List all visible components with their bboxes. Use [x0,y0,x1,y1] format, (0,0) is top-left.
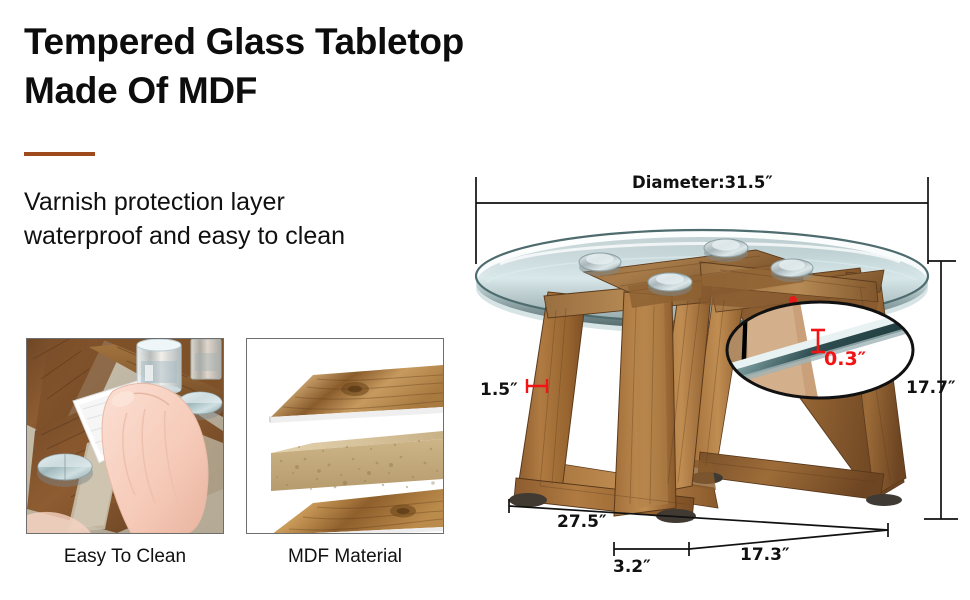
mdf-layers-illustration [247,339,443,533]
glass-thickness-callout [720,296,913,398]
dimension-label-leg-thickness: 1.5″ [480,380,518,400]
table-base [509,250,906,523]
dimension-label-glass-thickness: 0.3″ [824,348,866,370]
dimension-label-height: 17.7″ [906,378,956,398]
subtitle: Varnish protection layer waterproof and … [24,186,454,253]
dimension-label-width: 27.5″ [557,512,607,532]
subtitle-line1: Varnish protection layer [24,186,454,220]
photo-mdf-material [246,338,444,534]
page-title-line1: Tempered Glass Tabletop [24,18,624,67]
caption-easy-to-clean: Easy To Clean [25,546,225,568]
glass-tabletop [476,230,928,334]
caption-mdf-material: MDF Material [245,546,445,568]
accent-divider [24,152,95,156]
photo-easy-to-clean [26,338,224,534]
easy-to-clean-illustration [27,339,223,533]
page-title: Tempered Glass Tabletop Made Of MDF [24,18,624,116]
glass-support-discs [579,239,813,296]
dimension-label-foot: 3.2″ [613,557,651,577]
subtitle-line2: waterproof and easy to clean [24,220,454,254]
infographic-page: Tempered Glass Tabletop Made Of MDF Varn… [0,0,970,600]
dimension-label-side: 17.3″ [740,545,790,565]
page-title-line2: Made Of MDF [24,67,624,116]
dimension-label-diameter: Diameter:31.5″ [632,173,773,192]
dimension-leg-thickness [527,379,547,393]
